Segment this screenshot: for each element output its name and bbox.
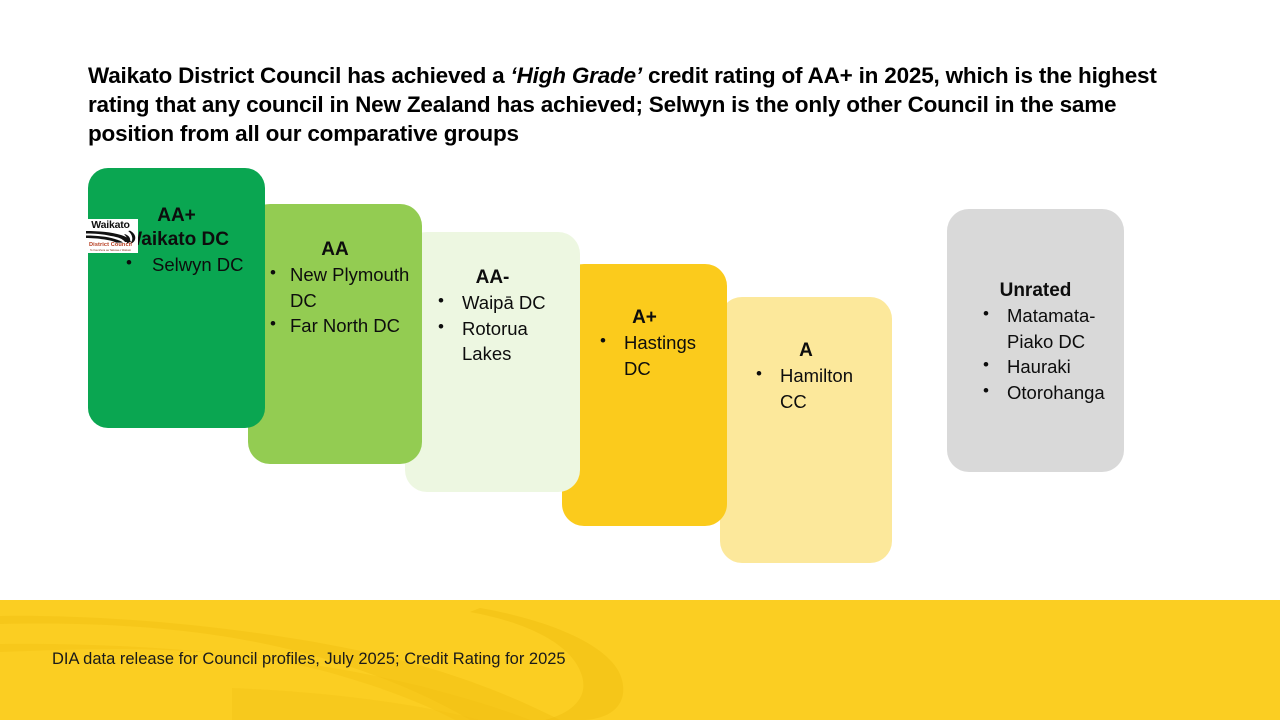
rating-card-aa-plus-list: Selwyn DC [98, 252, 255, 278]
rating-card-aa-content: AA New Plymouth DC Far North DC [248, 238, 422, 339]
title-segment-1: Waikato District Council has achieved a [88, 63, 511, 88]
rating-card-a-plus-content: A+ Hastings DC [562, 306, 727, 381]
rating-card-aa: AA New Plymouth DC Far North DC [248, 204, 422, 464]
rating-card-a: A Hamilton CC [720, 297, 892, 563]
rating-card-aa-minus-list: Waipā DC Rotorua Lakes [415, 290, 570, 367]
list-item: Matamata-Piako DC [1005, 303, 1114, 354]
rating-card-unrated-content: Unrated Matamata-Piako DC Hauraki Otoroh… [947, 279, 1124, 405]
rating-card-aa-minus-content: AA- Waipā DC Rotorua Lakes [405, 266, 580, 367]
list-item: Rotorua Lakes [460, 316, 570, 367]
list-item: Otorohanga [1005, 380, 1114, 406]
rating-card-a-plus-list: Hastings DC [572, 330, 717, 381]
rating-card-a-grade: A [730, 339, 882, 362]
rating-card-a-content: A Hamilton CC [720, 339, 892, 414]
page-title: Waikato District Council has achieved a … [88, 62, 1183, 148]
rating-card-a-plus-grade: A+ [572, 306, 717, 329]
logo-wordmark-top: Waikato [83, 219, 138, 231]
list-item: Selwyn DC [150, 252, 255, 278]
rating-card-a-plus: A+ Hastings DC [562, 264, 727, 526]
rating-card-aa-minus: AA- Waipā DC Rotorua Lakes [405, 232, 580, 492]
rating-card-unrated-list: Matamata-Piako DC Hauraki Otorohanga [957, 303, 1114, 405]
list-item: Hauraki [1005, 354, 1114, 380]
rating-card-unrated: Unrated Matamata-Piako DC Hauraki Otoroh… [947, 209, 1124, 472]
rating-card-aa-list: New Plymouth DC Far North DC [258, 262, 412, 339]
footer-source-note: DIA data release for Council profiles, J… [52, 650, 566, 669]
title-italic-text: High Grade [517, 63, 636, 88]
logo-tagline: Te Kaunihera aa Takiwaa o Waikato [83, 250, 138, 253]
waikato-district-council-logo: Waikato District Council Te Kaunihera aa… [83, 219, 138, 253]
rating-card-unrated-grade: Unrated [957, 279, 1114, 302]
list-item: Waipā DC [460, 290, 570, 316]
list-item: Hamilton CC [778, 363, 882, 414]
slide-canvas: Waikato District Council has achieved a … [0, 0, 1280, 720]
title-italic-highgrade: ‘High Grade’ [511, 63, 642, 88]
list-item: Far North DC [288, 313, 412, 339]
list-item: Hastings DC [622, 330, 717, 381]
rating-card-aa-grade: AA [258, 238, 412, 261]
list-item: New Plymouth DC [288, 262, 412, 313]
rating-card-aa-plus: AA+ Waikato DC Selwyn DC [88, 168, 265, 428]
rating-card-aa-minus-grade: AA- [415, 266, 570, 289]
rating-card-a-list: Hamilton CC [730, 363, 882, 414]
